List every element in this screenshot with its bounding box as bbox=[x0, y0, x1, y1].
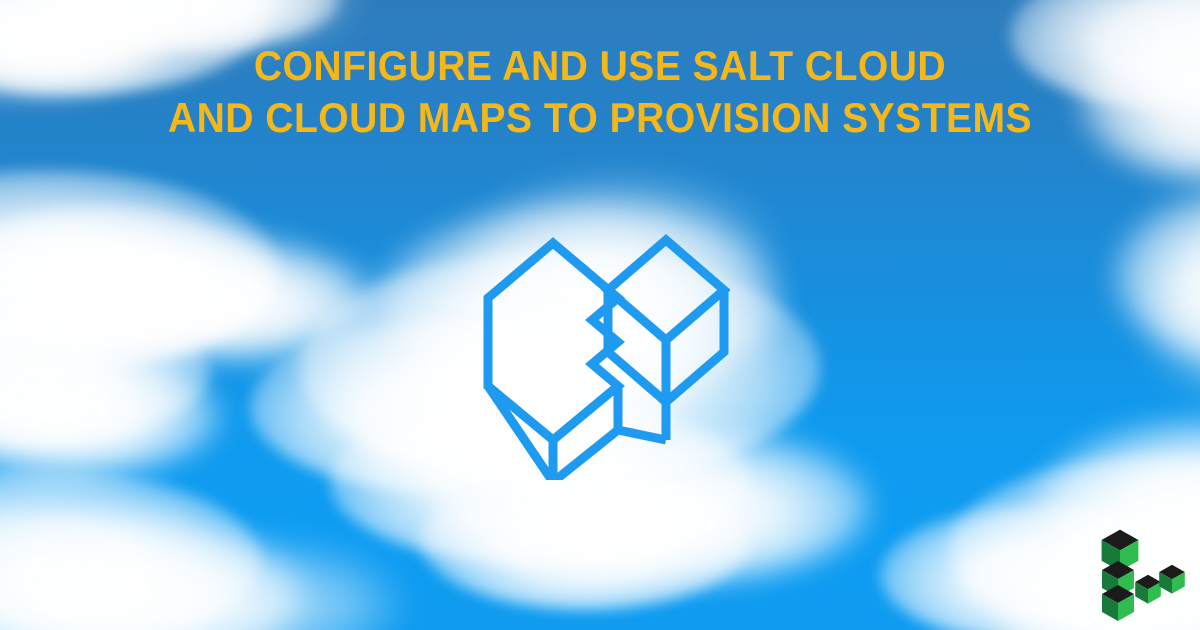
banner-title: CONFIGURE AND USE SALT CLOUD AND CLOUD M… bbox=[0, 40, 1200, 144]
banner-image: CONFIGURE AND USE SALT CLOUD AND CLOUD M… bbox=[0, 0, 1200, 630]
title-line-2: AND CLOUD MAPS TO PROVISION SYSTEMS bbox=[42, 92, 1158, 144]
logo-cube bbox=[1135, 575, 1161, 604]
cloud-shape bbox=[150, 265, 410, 360]
cloud-shape bbox=[0, 520, 300, 630]
cloud-shape bbox=[1115, 190, 1200, 360]
cloud-shape bbox=[1150, 250, 1200, 400]
cloud-shape bbox=[420, 470, 750, 610]
brand-logo[interactable] bbox=[1090, 518, 1194, 622]
cloud-shape bbox=[0, 170, 280, 375]
cloud-shape bbox=[0, 300, 210, 445]
cloud-shape bbox=[0, 470, 260, 630]
title-line-1: CONFIGURE AND USE SALT CLOUD bbox=[42, 40, 1158, 92]
cloud-shape bbox=[0, 205, 270, 355]
isometric-cube-icon bbox=[480, 230, 730, 480]
cloud-shape bbox=[0, 355, 220, 475]
cloud-shape bbox=[60, 235, 360, 355]
logo-cube bbox=[1159, 565, 1185, 594]
cloud-shape bbox=[150, 0, 350, 40]
cloud-shape bbox=[120, 545, 400, 630]
